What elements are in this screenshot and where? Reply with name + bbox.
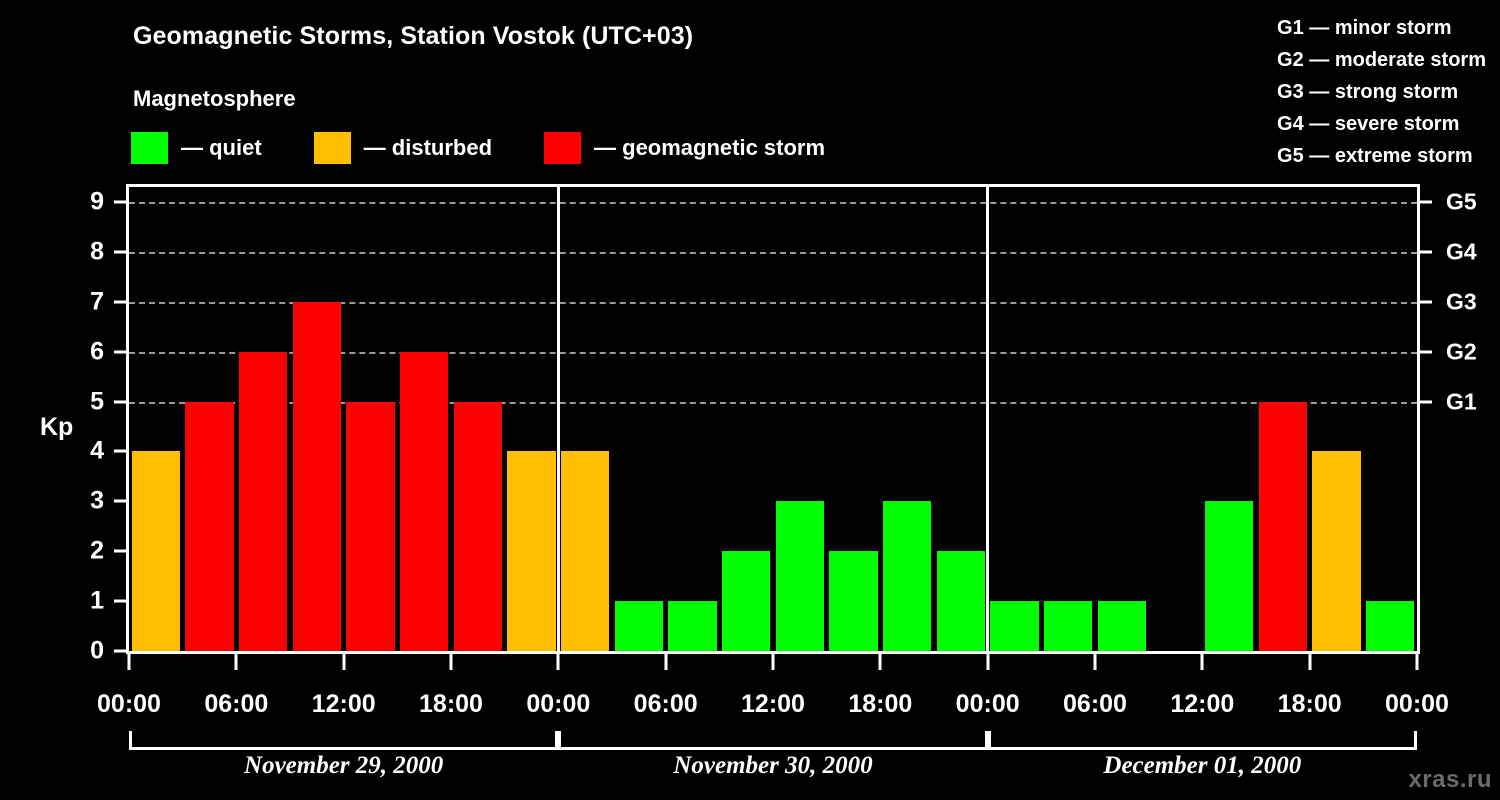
g-axis-tick-label: G1 [1446,388,1477,415]
bar [507,451,556,651]
date-brackets [129,734,1417,752]
orange-square-swatch [314,132,351,164]
y-axis-label: Kp [40,413,73,442]
y-axis-tick-mark [114,300,126,303]
bar [829,551,878,651]
bar [615,601,664,651]
bar [293,302,342,651]
bar [1366,601,1415,651]
g-scale-line: G4 — severe storm [1277,108,1486,140]
bar [239,352,288,651]
g-scale-line: G3 — strong storm [1277,76,1486,108]
bar [1044,601,1093,651]
legend-item: — geomagnetic storm [544,132,825,164]
g-axis: G1G2G3G4G5 [1420,187,1500,651]
x-axis-tick-mark [1201,654,1204,670]
x-axis-tick-mark [1308,654,1311,670]
gridline [129,202,1417,204]
x-axis-tick-label: 00:00 [97,690,161,719]
gridline [129,252,1417,254]
x-axis-tick-mark [772,654,775,670]
x-axis-tick-label: 12:00 [1170,690,1234,719]
y-axis-tick-label: 8 [64,237,104,266]
y-axis-tick-label: 3 [64,487,104,516]
bar [937,551,986,651]
x-axis-tick-label: 18:00 [848,690,912,719]
legend-item-label: — geomagnetic storm [594,135,825,161]
date-label: December 01, 2000 [1103,752,1301,780]
bar [454,402,503,651]
y-axis-tick-mark [114,350,126,353]
x-axis-tick-label: 00:00 [956,690,1020,719]
bar [990,601,1039,651]
y-axis-tick-mark [114,500,126,503]
legend-item: — disturbed [314,132,492,164]
date-label: November 30, 2000 [673,752,872,780]
bar [132,451,181,651]
y-axis-tick-mark [114,550,126,553]
x-axis-tick-mark [664,654,667,670]
x-axis-tick-label: 06:00 [634,690,698,719]
g-scale-line: G2 — moderate storm [1277,44,1486,76]
legend-item: — quiet [131,132,262,164]
bar [185,402,234,651]
x-axis-tick-label: 18:00 [1278,690,1342,719]
plot-area [129,187,1417,651]
g-axis-tick-mark [1420,350,1432,353]
y-axis-tick-mark [114,650,126,653]
y-axis-tick-label: 1 [64,587,104,616]
bar [346,402,395,651]
x-axis-tick-mark [1416,654,1419,670]
x-axis-tick-mark [1094,654,1097,670]
legend-heading: Magnetosphere [133,86,296,112]
page-title: Geomagnetic Storms, Station Vostok (UTC+… [133,22,693,51]
x-axis-tick-mark [557,654,560,670]
y-axis-tick-mark [114,250,126,253]
g-scale-line: G5 — extreme storm [1277,140,1486,172]
x-axis-tick-label: 12:00 [741,690,805,719]
y-axis-tick-label: 7 [64,287,104,316]
x-axis-tick-label: 12:00 [312,690,376,719]
x-axis-tick-mark [128,654,131,670]
x-axis-tick-mark [235,654,238,670]
bar [776,501,825,651]
x-axis-tick-mark [342,654,345,670]
g-axis-tick-mark [1420,250,1432,253]
x-axis-tick-mark [986,654,989,670]
y-axis-tick-label: 2 [64,537,104,566]
x-axis-labels: 00:0006:0012:0018:0000:0006:0012:0018:00… [0,690,1500,720]
date-bracket [988,734,1417,750]
y-axis-tick-label: 0 [64,637,104,666]
x-axis-tick-mark [879,654,882,670]
date-labels: November 29, 2000November 30, 2000Decemb… [129,752,1417,792]
bar [1098,601,1147,651]
red-square-swatch [544,132,581,164]
legend-item-label: — disturbed [364,135,492,161]
g-axis-tick-label: G2 [1446,338,1477,365]
date-bracket [129,734,558,750]
x-axis-ticks [129,654,1417,670]
x-axis-tick-label: 18:00 [419,690,483,719]
date-label: November 29, 2000 [244,752,443,780]
y-axis-tick-mark [114,200,126,203]
g-axis-tick-label: G5 [1446,188,1477,215]
bar [561,451,610,651]
date-bracket [558,734,987,750]
day-separator [557,187,560,651]
g-scale-line: G1 — minor storm [1277,12,1486,44]
g-axis-tick-mark [1420,400,1432,403]
bar [722,551,771,651]
bar [400,352,449,651]
chart-root: Geomagnetic Storms, Station Vostok (UTC+… [0,0,1500,800]
g-scale-legend: G1 — minor stormG2 — moderate stormG3 — … [1277,12,1486,172]
y-axis-tick-label: 6 [64,337,104,366]
g-axis-tick-mark [1420,300,1432,303]
watermark: xras.ru [1408,766,1492,794]
bar [668,601,717,651]
bar [1205,501,1254,651]
y-axis-tick-label: 9 [64,187,104,216]
bar [883,501,932,651]
x-axis-tick-label: 06:00 [1063,690,1127,719]
y-axis-tick-mark [114,600,126,603]
y-axis-tick-mark [114,450,126,453]
bar [1312,451,1361,651]
x-axis-tick-label: 00:00 [1385,690,1449,719]
legend: — quiet— disturbed— geomagnetic storm [131,132,877,164]
green-square-swatch [131,132,168,164]
g-axis-tick-label: G4 [1446,238,1477,265]
x-axis-tick-mark [450,654,453,670]
y-axis-tick-label: 5 [64,387,104,416]
y-axis-tick-mark [114,400,126,403]
g-axis-tick-label: G3 [1446,288,1477,315]
legend-item-label: — quiet [181,135,262,161]
x-axis-tick-label: 06:00 [204,690,268,719]
x-axis-tick-label: 00:00 [526,690,590,719]
day-separator [986,187,989,651]
g-axis-tick-mark [1420,200,1432,203]
bar [1259,402,1308,651]
